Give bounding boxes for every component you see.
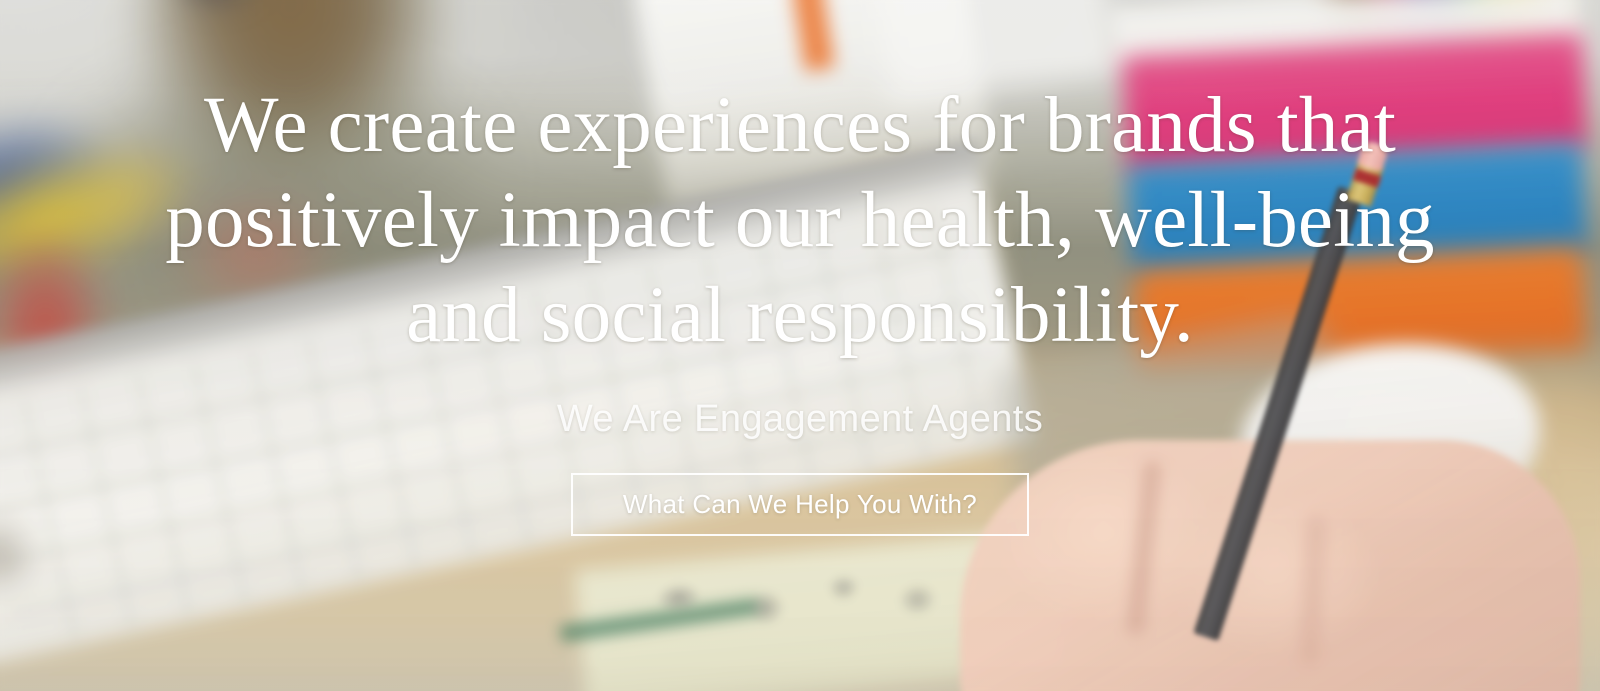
what-can-we-help-you-with-button[interactable]: What Can We Help You With? (571, 473, 1029, 536)
hero-banner: We create experiences for brands that po… (0, 0, 1600, 691)
hero-cta-wrapper: What Can We Help You With? (571, 442, 1029, 536)
hero-subtitle: We Are Engagement Agents (557, 363, 1043, 442)
hero-content: We create experiences for brands that po… (0, 0, 1600, 691)
hero-headline: We create experiences for brands that po… (155, 78, 1445, 363)
